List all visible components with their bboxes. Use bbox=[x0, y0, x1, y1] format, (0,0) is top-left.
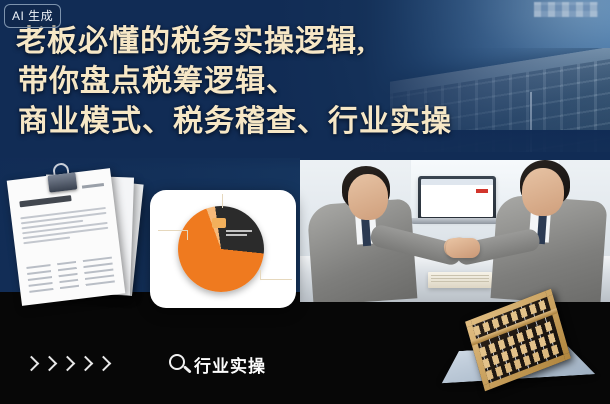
headline-line-3: 商业模式、税务稽查、行业实操 bbox=[16, 102, 576, 142]
chevron-right-icon bbox=[44, 356, 53, 372]
handshake-icon bbox=[446, 238, 480, 258]
chevron-arrows-group bbox=[26, 356, 107, 372]
ai-generated-badge: AI 生成 bbox=[4, 4, 61, 28]
search-tag[interactable]: 行业实操 bbox=[168, 352, 266, 377]
businessman-left bbox=[308, 152, 438, 302]
binder-clip-icon bbox=[47, 164, 78, 193]
blurred-watermark bbox=[534, 2, 598, 17]
poster-canvas: AI 生成 老板必懂的税务实操逻辑, 带你盘点税筹逻辑、 商业模式、税务稽查、行… bbox=[0, 0, 610, 404]
chevron-right-icon bbox=[26, 356, 35, 372]
headline-line-1: 老板必懂的税务实操逻辑, bbox=[16, 22, 576, 62]
headline-line-2: 带你盘点税筹逻辑、 bbox=[16, 62, 576, 102]
search-tag-label: 行业实操 bbox=[194, 352, 266, 377]
pie-slice-label bbox=[226, 230, 252, 238]
businessman-right bbox=[464, 152, 604, 302]
headline-block: 老板必懂的税务实操逻辑, 带你盘点税筹逻辑、 商业模式、税务稽查、行业实操 bbox=[16, 22, 576, 142]
abacus-graphic bbox=[444, 302, 604, 398]
pie-chart-card bbox=[150, 190, 296, 308]
chevron-right-icon bbox=[62, 356, 71, 372]
pie-slice-light-orange bbox=[212, 218, 226, 228]
chevron-right-icon bbox=[80, 356, 89, 372]
tax-documents-graphic bbox=[4, 168, 144, 300]
handshake-photo bbox=[300, 152, 610, 302]
chevron-right-icon bbox=[98, 356, 107, 372]
bottom-bar: 行业实操 bbox=[0, 330, 302, 404]
magnifier-icon bbox=[168, 353, 192, 377]
